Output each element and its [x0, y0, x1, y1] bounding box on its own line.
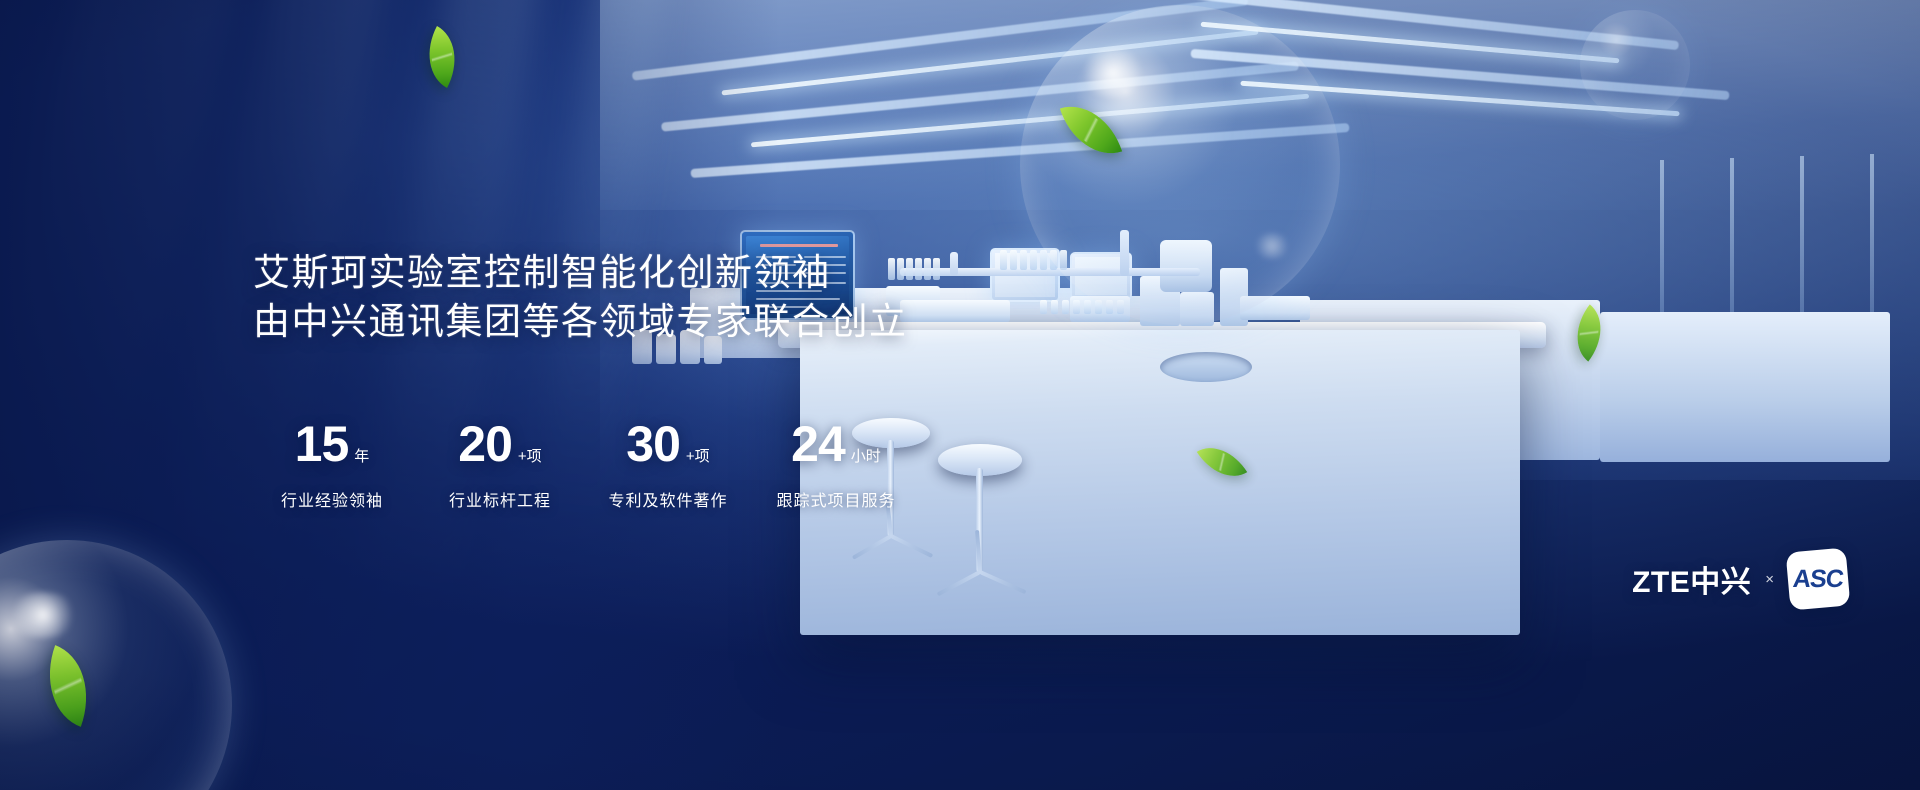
banner-content: 艾斯珂实验室控制智能化创新领袖 由中兴通讯集团等各领域专家联合创立 15 年 行…: [0, 0, 1920, 790]
stat-number: 20: [458, 415, 512, 473]
headline-line-2: 由中兴通讯集团等各领域专家联合创立: [253, 297, 908, 346]
stat-item-service: 24 小时 跟踪式项目服务: [752, 415, 920, 511]
stat-label: 跟踪式项目服务: [752, 487, 920, 511]
stat-item-experience: 15 年 行业经验领袖: [248, 415, 416, 511]
stat-number: 24: [791, 415, 845, 473]
zte-logo: ZTE中兴: [1632, 557, 1751, 601]
hero-banner: 艾斯珂实验室控制智能化创新领袖 由中兴通讯集团等各领域专家联合创立 15 年 行…: [0, 0, 1920, 790]
asc-logo-badge: ASC: [1786, 547, 1851, 610]
stat-unit: 小时: [851, 445, 881, 466]
stat-unit: +项: [518, 445, 542, 466]
logo-separator: ×: [1765, 571, 1774, 588]
headline-line-1: 艾斯珂实验室控制智能化创新领袖: [253, 248, 908, 297]
stat-item-projects: 20 +项 行业标杆工程: [416, 415, 584, 511]
stat-unit: 年: [354, 445, 369, 466]
stat-unit: +项: [686, 445, 710, 466]
stat-label: 专利及软件著作: [584, 487, 752, 511]
asc-logo-text: ASC: [1792, 565, 1845, 594]
stat-label: 行业标杆工程: [416, 487, 584, 511]
stat-number: 30: [626, 415, 680, 473]
stat-number: 15: [295, 415, 349, 473]
logo-lockup: ZTE中兴 × ASC: [1632, 550, 1848, 608]
stat-item-patents: 30 +项 专利及软件著作: [584, 415, 752, 511]
stats-row: 15 年 行业经验领袖 20 +项 行业标杆工程 30 +项 专利及软件著作: [248, 415, 920, 511]
headline-block: 艾斯珂实验室控制智能化创新领袖 由中兴通讯集团等各领域专家联合创立: [253, 248, 908, 346]
stat-label: 行业经验领袖: [248, 487, 416, 511]
